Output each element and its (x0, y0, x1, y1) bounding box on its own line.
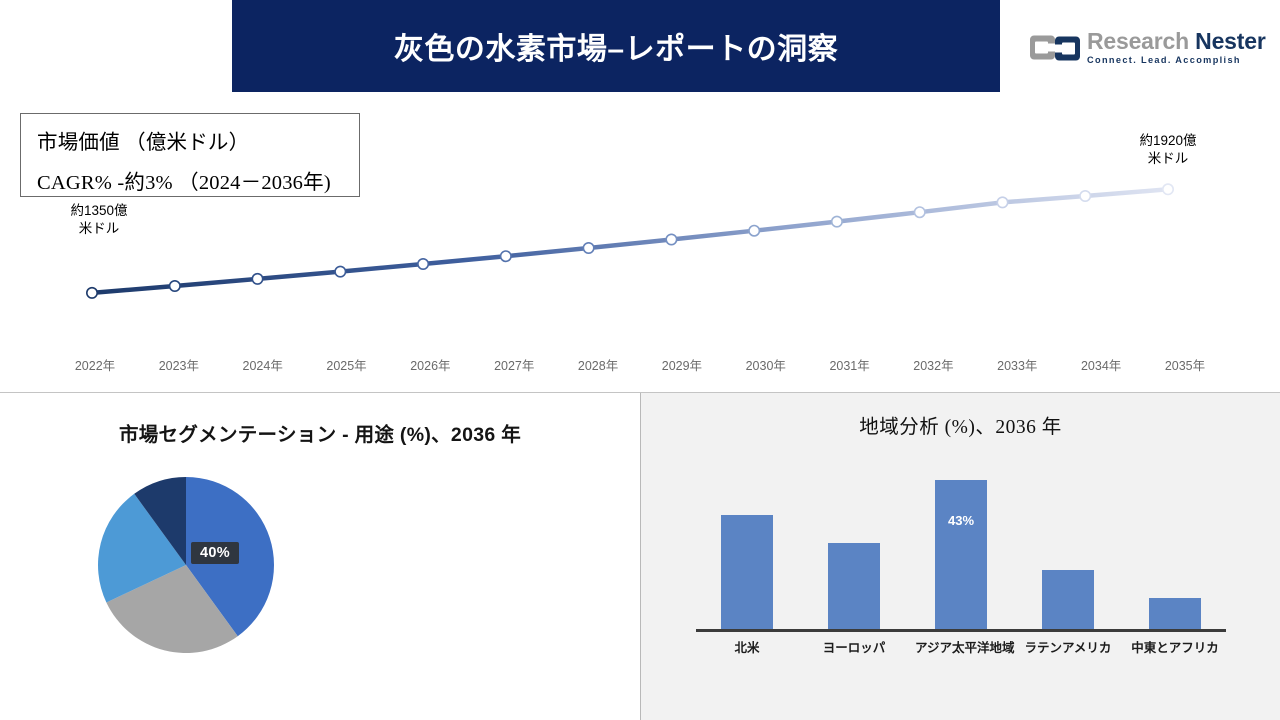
bar-column (701, 463, 793, 629)
bar (1149, 598, 1201, 629)
x-axis-tick-label: 2030年 (726, 355, 806, 374)
end-value-line1: 約1920億 (1113, 132, 1223, 150)
x-axis-tick-label: 2027年 (474, 355, 554, 374)
bar-x-axis-label: ラテンアメリカ (1022, 637, 1114, 656)
bar-chart-x-axis-labels: 北米ヨーロッパアジア太平洋地域ラテンアメリカ中東とアフリカ (701, 637, 1221, 656)
end-value-annotation: 約1920億 米ドル (1113, 132, 1223, 168)
logo-name-first: Research (1087, 28, 1189, 54)
infographic-page: 灰色の水素市場–レポートの洞察 Research Nester Connect.… (0, 0, 1280, 720)
bar (828, 543, 880, 630)
trend-point (1080, 191, 1090, 201)
x-axis-tick-label: 2023年 (139, 355, 219, 374)
segmentation-title: 市場セグメンテーション - 用途 (%)、2036 年 (0, 418, 640, 447)
pie-chart-svg (97, 476, 275, 654)
logo-tagline: Connect. Lead. Accomplish (1087, 56, 1266, 65)
bar (1042, 570, 1094, 629)
bar-data-label: 43% (935, 513, 987, 528)
x-axis-tick-label: 2024年 (223, 355, 303, 374)
brand-logo: Research Nester Connect. Lead. Accomplis… (1030, 22, 1260, 74)
x-axis-tick-label: 2028年 (558, 355, 638, 374)
segmentation-pie-chart (97, 476, 275, 654)
regional-analysis-panel: 地域分析 (%)、2036 年 43% 北米ヨーロッパアジア太平洋地域ラテンアメ… (641, 393, 1280, 720)
trend-point (252, 274, 262, 284)
trend-point (583, 243, 593, 253)
trend-point (832, 216, 842, 226)
logo-name-second: Nester (1195, 28, 1265, 54)
trend-point (170, 281, 180, 291)
line-chart-x-axis-labels: 2022年2023年2024年2025年2026年2027年2028年2029年… (55, 355, 1225, 383)
header-banner: 灰色の水素市場–レポートの洞察 (232, 0, 1000, 92)
x-axis-tick-label: 2029年 (642, 355, 722, 374)
bar-chart-baseline (696, 629, 1226, 632)
x-axis-tick-label: 2032年 (893, 355, 973, 374)
bar-column: 43% (915, 463, 1007, 629)
trend-point (915, 207, 925, 217)
logo-text: Research Nester Connect. Lead. Accomplis… (1087, 30, 1266, 65)
x-axis-tick-label: 2025年 (307, 355, 387, 374)
bar-x-axis-label: ヨーロッパ (808, 637, 900, 656)
trend-point (666, 234, 676, 244)
bar-column (1129, 463, 1221, 629)
trend-point (501, 251, 511, 261)
end-value-line2: 米ドル (1113, 150, 1223, 168)
trend-point (1163, 184, 1173, 194)
market-value-line-chart: 約1350億 米ドル 約1920億 米ドル (0, 92, 1280, 392)
line-chart-svg (0, 92, 1280, 392)
bar-x-axis-label: アジア太平洋地域 (915, 637, 1007, 656)
bar-x-axis-label: 中東とアフリカ (1129, 637, 1221, 656)
x-axis-tick-label: 2022年 (55, 355, 135, 374)
regional-analysis-title: 地域分析 (%)、2036 年 (641, 410, 1280, 439)
bar-column (808, 463, 900, 629)
bar-x-axis-label: 北米 (701, 637, 793, 656)
trend-point (418, 259, 428, 269)
logo-name: Research Nester (1087, 30, 1266, 53)
trend-point (749, 226, 759, 236)
trend-point (335, 266, 345, 276)
bar: 43% (935, 480, 987, 629)
start-value-annotation: 約1350億 米ドル (44, 202, 154, 238)
trend-point (997, 197, 1007, 207)
start-value-line1: 約1350億 (44, 202, 154, 220)
chain-link-icon (1030, 31, 1080, 65)
bar (721, 515, 773, 629)
x-axis-tick-label: 2026年 (390, 355, 470, 374)
x-axis-tick-label: 2035年 (1145, 355, 1225, 374)
regional-bars-area: 43% (701, 463, 1221, 629)
start-value-line2: 米ドル (44, 220, 154, 238)
page-title: 灰色の水素市場–レポートの洞察 (394, 24, 838, 68)
x-axis-tick-label: 2031年 (810, 355, 890, 374)
x-axis-tick-label: 2033年 (977, 355, 1057, 374)
segmentation-panel: 市場セグメンテーション - 用途 (%)、2036 年 40% アンモニア製造メ… (0, 393, 640, 720)
x-axis-tick-label: 2034年 (1061, 355, 1141, 374)
trend-point (87, 288, 97, 298)
bar-column (1022, 463, 1114, 629)
pie-data-label: 40% (191, 542, 239, 564)
